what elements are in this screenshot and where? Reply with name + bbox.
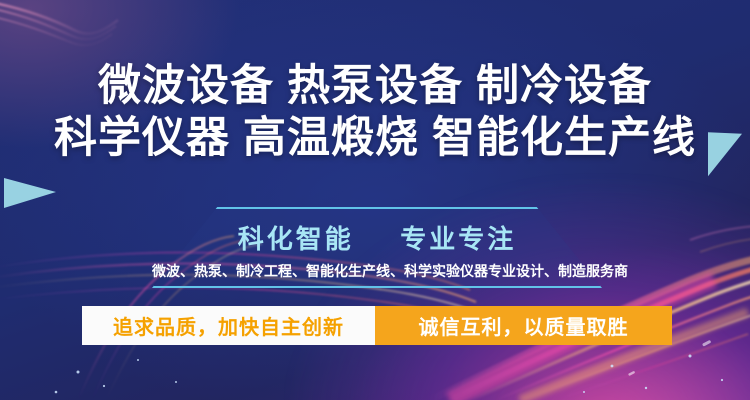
- headline: 微波设备 热泵设备 制冷设备 科学仪器 高温煅烧 智能化生产线: [0, 60, 750, 164]
- tagline-bar-left: 追求品质，加快自主创新: [82, 306, 375, 345]
- slogan-right: 专业专注: [400, 224, 516, 254]
- slogan-panel: 科化智能 专业专注 微波、热泵、制冷工程、智能化生产线、科学实验仪器专业设计、制…: [152, 207, 602, 288]
- slogan-row: 科化智能 专业专注: [152, 219, 602, 256]
- tagline-bar-left-text: 追求品质，加快自主创新: [113, 311, 344, 340]
- headline-line-1: 微波设备 热泵设备 制冷设备: [0, 60, 750, 112]
- promo-banner: 微波设备 热泵设备 制冷设备 科学仪器 高温煅烧 智能化生产线 科化智能 专业专…: [0, 0, 750, 400]
- panel-subline: 微波、热泵、制冷工程、智能化生产线、科学实验仪器专业设计、制造服务商: [152, 261, 602, 281]
- tagline-bar-right: 诚信互利，以质量取胜: [375, 306, 672, 345]
- left-arrow-icon: [4, 178, 56, 208]
- headline-line-2: 科学仪器 高温煅烧 智能化生产线: [0, 112, 750, 164]
- tagline-bar-right-text: 诚信互利，以质量取胜: [419, 311, 629, 340]
- slogan-left: 科化智能: [238, 224, 354, 254]
